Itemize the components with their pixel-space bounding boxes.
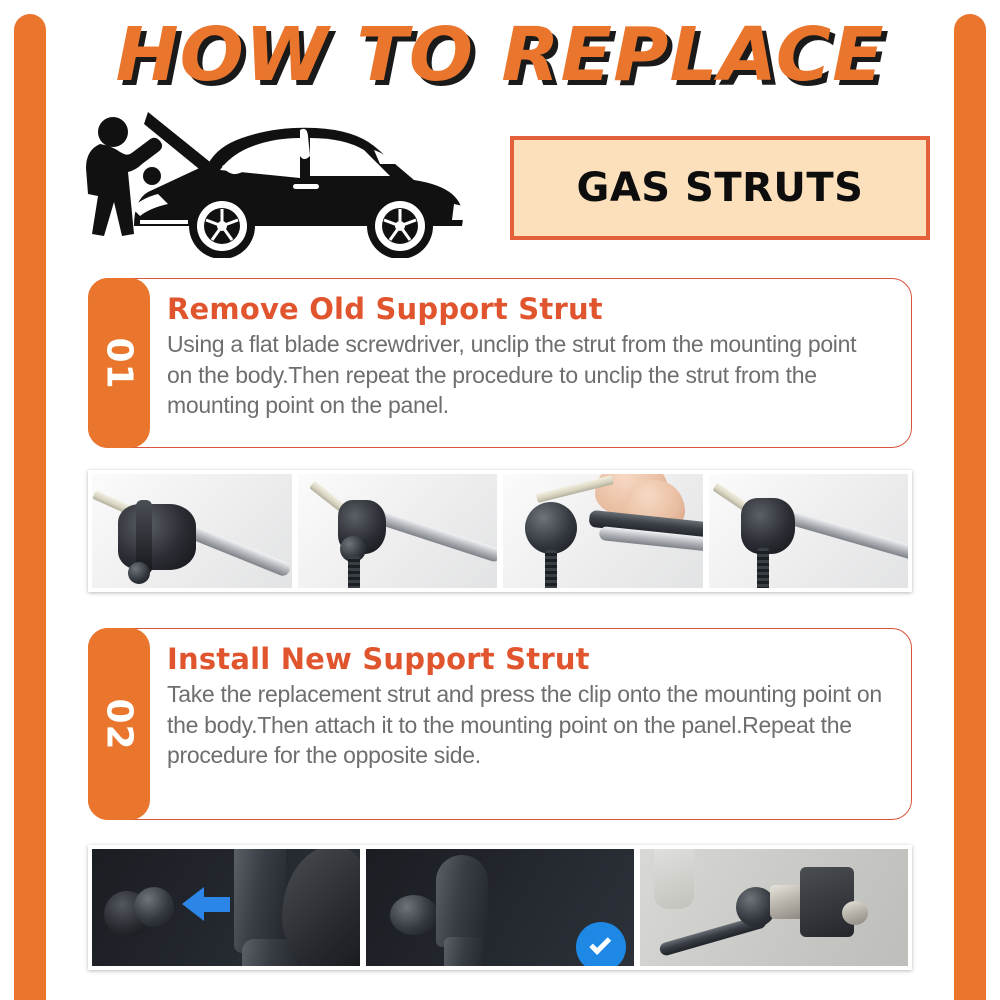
gloved-hand xyxy=(282,849,360,966)
step1-photo-3 xyxy=(503,474,703,588)
subject-label: GAS STRUTS xyxy=(577,165,864,211)
step-text-02: Take the replacement strut and press the… xyxy=(167,679,885,770)
left-orange-bar xyxy=(14,14,46,1000)
car-hood-illustration-icon xyxy=(70,108,490,258)
vehicle-panel xyxy=(654,849,694,909)
check-icon xyxy=(589,933,611,955)
strut-socket-end xyxy=(436,855,488,947)
photo-strip-02 xyxy=(88,845,912,970)
ball-stud xyxy=(390,895,438,935)
hero-row: GAS STRUTS xyxy=(70,108,930,258)
infographic-page: HOW TO REPLACE xyxy=(0,0,1000,1000)
step1-photo-1 xyxy=(92,474,292,588)
step-number-tab-01: 01 xyxy=(88,278,150,448)
ball-stud xyxy=(128,562,150,584)
strut-end-bracket xyxy=(234,849,286,953)
strut-body xyxy=(444,937,484,966)
step1-photo-4 xyxy=(709,474,909,588)
step-card-02: 02 Install New Support Strut Take the re… xyxy=(88,628,912,820)
step-number-02: 02 xyxy=(98,698,139,750)
step-title-02: Install New Support Strut xyxy=(167,643,885,675)
clip-collar xyxy=(118,504,196,570)
step-text-01: Using a flat blade screwdriver, unclip t… xyxy=(167,329,885,420)
threaded-stud xyxy=(545,550,557,588)
step-number-01: 01 xyxy=(98,337,139,389)
blue-arrow-tail xyxy=(204,897,230,912)
step2-photo-3 xyxy=(640,849,908,966)
page-title: HOW TO REPLACE xyxy=(115,12,884,98)
step2-photo-2 xyxy=(366,849,634,966)
step2-photo-1 xyxy=(92,849,360,966)
photo-strip-01 xyxy=(88,470,912,592)
subject-badge: GAS STRUTS xyxy=(510,136,930,240)
right-orange-bar xyxy=(954,14,986,1000)
ball-socket xyxy=(525,502,577,554)
step-title-01: Remove Old Support Strut xyxy=(167,293,885,325)
blue-check-badge-icon xyxy=(576,922,626,966)
threaded-stud xyxy=(348,556,360,588)
step-number-tab-02: 02 xyxy=(88,628,150,820)
clip-collar xyxy=(741,498,795,554)
step1-photo-2 xyxy=(298,474,498,588)
fastener xyxy=(842,901,868,925)
header: HOW TO REPLACE xyxy=(0,12,1000,98)
ball-head xyxy=(134,887,174,927)
threaded-stud xyxy=(757,548,769,588)
mounting-bracket xyxy=(800,867,854,937)
step-body-02: Install New Support Strut Take the repla… xyxy=(167,629,911,819)
step-card-01: 01 Remove Old Support Strut Using a flat… xyxy=(88,278,912,448)
step-body-01: Remove Old Support Strut Using a flat bl… xyxy=(167,279,911,447)
blue-arrow-icon xyxy=(182,887,204,921)
